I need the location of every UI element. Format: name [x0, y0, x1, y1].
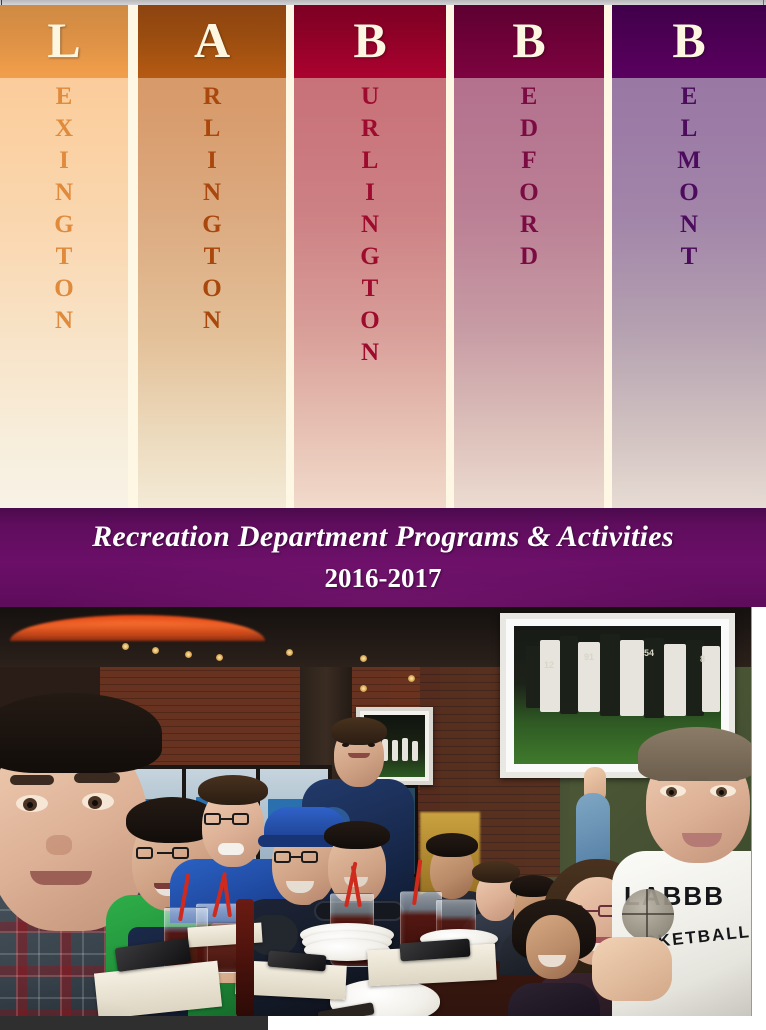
town-column-belmont: B E L M O N T: [612, 5, 766, 508]
photo-track-light: [152, 647, 159, 654]
town-letter: I: [365, 177, 375, 209]
photo-right-margin: [752, 607, 766, 1016]
town-letter: I: [59, 145, 69, 177]
town-letter: N: [361, 209, 379, 241]
photo-track-light: [360, 685, 367, 692]
town-letter: D: [520, 241, 538, 273]
photo-person-resting: [508, 899, 600, 1016]
town-letter: G: [202, 209, 221, 241]
town-letter: R: [361, 113, 379, 145]
town-letter: N: [680, 209, 698, 241]
photo-track-light: [360, 655, 367, 662]
town-letter: O: [679, 177, 698, 209]
town-letter: U: [361, 81, 379, 113]
town-column-lexington: L E X I N G T O N: [0, 5, 128, 508]
town-letter: G: [54, 209, 73, 241]
banner-title: Recreation Department Programs & Activit…: [0, 520, 766, 553]
town-letter: O: [519, 177, 538, 209]
photo-track-light: [185, 651, 192, 658]
town-letter: N: [203, 305, 221, 337]
town-letter: O: [202, 273, 221, 305]
town-letter: X: [55, 113, 73, 145]
cover-photograph: 12 91 54 8: [0, 607, 752, 1016]
town-initial-burlington: B: [294, 5, 446, 78]
title-banner: Recreation Department Programs & Activit…: [0, 508, 766, 607]
town-letter: N: [361, 337, 379, 369]
photo-track-light: [286, 649, 293, 656]
town-letter: N: [55, 305, 73, 337]
town-letter: I: [207, 145, 217, 177]
town-letter: F: [521, 145, 536, 177]
town-name-arlington: R L I N G T O N: [138, 81, 286, 337]
town-letter: T: [362, 273, 379, 305]
town-initial-arlington: A: [138, 5, 286, 78]
town-column-arlington: A R L I N G T O N: [138, 5, 286, 508]
town-letter: T: [204, 241, 221, 273]
town-name-bedford: E D F O R D: [454, 81, 604, 273]
town-name-burlington: U R L I N G T O N: [294, 81, 446, 369]
town-letter: E: [56, 81, 73, 113]
town-letter: O: [360, 305, 379, 337]
town-columns: L E X I N G T O N A R L I N G T: [0, 5, 766, 508]
photo-hand-right: [592, 937, 672, 1001]
town-initial-belmont: B: [612, 5, 766, 78]
town-letter: L: [204, 113, 221, 145]
town-letter: L: [681, 113, 698, 145]
town-letter: E: [681, 81, 698, 113]
town-letter: D: [520, 113, 538, 145]
banner-year: 2016-2017: [0, 564, 766, 594]
town-letter: G: [360, 241, 379, 273]
town-name-belmont: E L M O N T: [612, 81, 766, 273]
town-letter: O: [54, 273, 73, 305]
horizontal-scrollbar-track[interactable]: [0, 1016, 268, 1030]
town-letter: R: [203, 81, 221, 113]
photo-track-light: [122, 643, 129, 650]
photo-track-light: [216, 654, 223, 661]
town-letter: R: [520, 209, 538, 241]
photo-track-light: [408, 675, 415, 682]
town-letter: M: [677, 145, 701, 177]
page-root: L E X I N G T O N A R L I N G T: [0, 0, 766, 1030]
town-letter: N: [55, 177, 73, 209]
town-letter: E: [521, 81, 538, 113]
town-letter: L: [362, 145, 379, 177]
photo-bottle: [236, 899, 254, 1016]
town-name-lexington: E X I N G T O N: [0, 81, 128, 337]
town-initial-bedford: B: [454, 5, 604, 78]
town-column-burlington: B U R L I N G T O N: [294, 5, 446, 508]
town-initial-lexington: L: [0, 5, 128, 78]
town-letter: N: [203, 177, 221, 209]
town-letter: T: [56, 241, 73, 273]
town-column-bedford: B E D F O R D: [454, 5, 604, 508]
town-letter: T: [681, 241, 698, 273]
